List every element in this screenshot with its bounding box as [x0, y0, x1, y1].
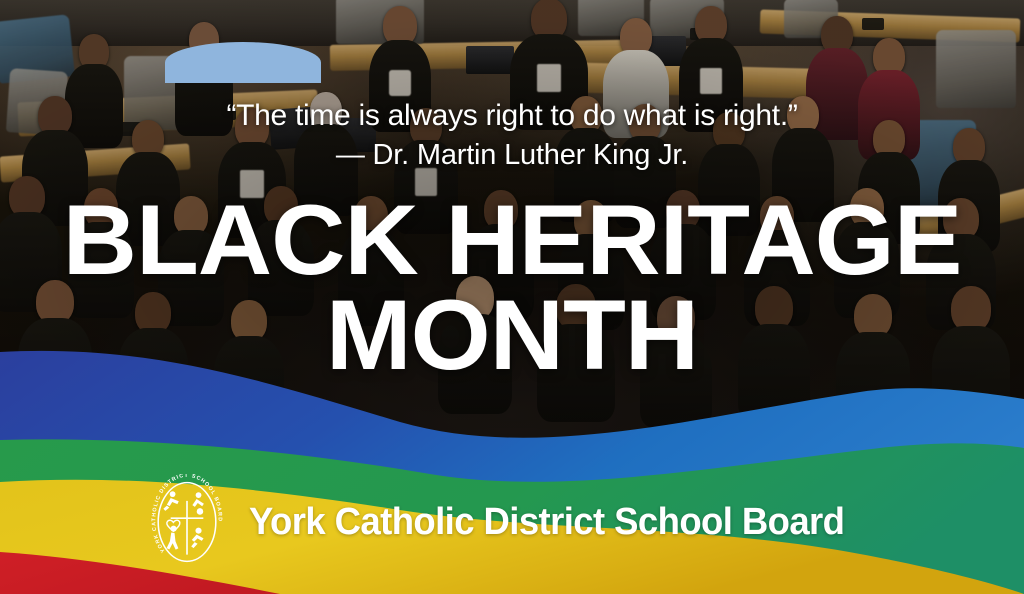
figures-group [163, 491, 204, 549]
black-heritage-month-banner: “The time is always right to do what is … [0, 0, 1024, 594]
ycdsb-crest-logo: YORK CATHOLIC DISTRICT SCHOOL BOARD [139, 474, 235, 570]
quote-text: “The time is always right to do what is … [0, 98, 1024, 133]
footer-branding: YORK CATHOLIC DISTRICT SCHOOL BOARD York… [139, 474, 869, 570]
quote-block: “The time is always right to do what is … [0, 98, 1024, 172]
quote-attribution: — Dr. Martin Luther King Jr. [0, 139, 1024, 172]
organization-name: York Catholic District School Board [249, 501, 844, 544]
headline-line-1: BLACK HERITAGE [0, 196, 1024, 283]
blue-dome-icon [165, 42, 321, 83]
